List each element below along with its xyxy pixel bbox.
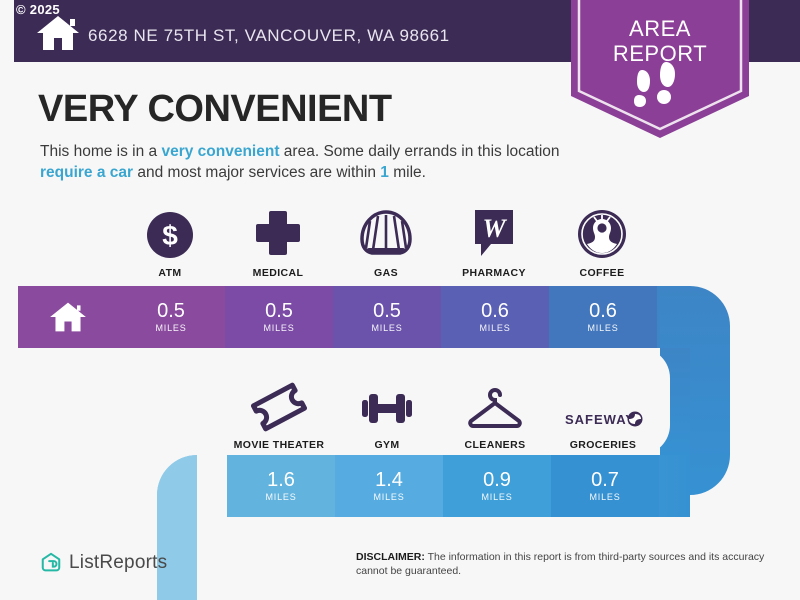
badge-text: AREA REPORT [565,16,755,66]
amenity-icon-row-bottom: MOVIE THEATER GYM CLEANER [225,374,657,451]
distance-cell: 0.9 MILES [443,455,551,517]
badge-line-1: AREA [565,16,755,41]
amenity-label: ATM [116,267,224,279]
distance-cell: 0.5 MILES [333,286,441,348]
amenity-gas: GAS [332,202,440,279]
area-report-infographic: © 2025 6628 NE 75TH ST, VANCOUVER, WA 98… [0,0,800,600]
hanger-icon [441,374,549,432]
amenity-label: GROCERIES [549,439,657,451]
amenity-groceries: SAFEWAY GROCERIES [549,374,657,451]
amenity-label: GAS [332,267,440,279]
dollar-circle-icon: $ [116,202,224,260]
distance-unit: MILES [371,323,402,333]
distance-value: 0.9 [483,470,511,491]
dumbbell-icon [333,374,441,432]
distance-unit: MILES [373,492,404,502]
distance-value: 1.6 [267,470,295,491]
distance-value: 0.7 [591,470,619,491]
home-marker-cell [18,286,117,348]
summary-highlight-3: 1 [380,164,389,181]
distance-value: 0.5 [373,301,401,322]
amenity-label: MOVIE THEATER [225,439,333,451]
amenity-medical: MEDICAL [224,202,332,279]
amenity-coffee: COFFEE [548,202,656,279]
house-icon [48,300,88,334]
svg-text:W: W [482,214,507,243]
distance-unit: MILES [263,323,294,333]
amenity-atm: $ ATM [116,202,224,279]
distance-cell: 0.5 MILES [117,286,225,348]
svg-text:$: $ [162,220,178,251]
page-title: VERY CONVENIENT [38,88,392,131]
distance-unit: MILES [589,492,620,502]
summary-part-1: This home is in a [40,143,161,160]
amenity-movie-theater: MOVIE THEATER [225,374,333,451]
distance-cell: 1.6 MILES [227,455,335,517]
listreports-logo-icon [40,552,62,574]
amenity-label: CLEANERS [441,439,549,451]
distance-value: 0.5 [157,301,185,322]
summary-text: This home is in a very convenient area. … [40,141,570,183]
distance-cell: 0.6 MILES [441,286,549,348]
property-address: 6628 NE 75TH ST, VANCOUVER, WA 98661 [88,26,450,46]
starbucks-logo-icon [548,202,656,260]
amenity-label: COFFEE [548,267,656,279]
summary-part-2: area. Some daily errands in this locatio… [280,143,560,160]
distance-cell: 1.4 MILES [335,455,443,517]
ticket-icon [225,374,333,432]
distance-unit: MILES [155,323,186,333]
amenity-gym: GYM [333,374,441,451]
amenity-label: MEDICAL [224,267,332,279]
distance-cell: 0.5 MILES [225,286,333,348]
distance-value: 0.6 [481,301,509,322]
shell-logo-icon [332,202,440,260]
distance-unit: MILES [481,492,512,502]
amenity-pharmacy: W PHARMACY [440,202,548,279]
distance-value: 0.5 [265,301,293,322]
distance-unit: MILES [265,492,296,502]
disclaimer-label: DISCLAIMER: [356,551,425,563]
distance-unit: MILES [587,323,618,333]
distance-value: 0.6 [589,301,617,322]
distance-bar-bottom: 1.6 MILES 1.4 MILES 0.9 MILES 0.7 MILES [227,455,659,517]
summary-part-4: mile. [389,164,426,181]
walgreens-logo-icon: W [440,202,548,260]
distance-unit: MILES [479,323,510,333]
copyright-label: © 2025 [16,2,60,17]
disclaimer: DISCLAIMER: The information in this repo… [356,550,776,578]
medical-cross-icon [224,202,332,260]
amenity-label: GYM [333,439,441,451]
amenity-icon-row-top: $ ATM MEDICAL GAS [116,202,656,279]
amenity-label: PHARMACY [440,267,548,279]
house-icon [36,14,80,52]
badge-line-2: REPORT [565,41,755,66]
summary-highlight-1: very convenient [161,143,279,160]
distance-bar-top: 0.5 MILES 0.5 MILES 0.5 MILES 0.6 MILES … [18,286,657,348]
svg-text:SAFEWAY: SAFEWAY [565,412,635,427]
amenity-cleaners: CLEANERS [441,374,549,451]
summary-highlight-2: require a car [40,164,133,181]
distance-cell: 0.6 MILES [549,286,657,348]
distance-value: 1.4 [375,470,403,491]
safeway-logo-icon: SAFEWAY [549,374,657,432]
listreports-brand-text: ListReports [69,552,167,574]
distance-cell: 0.7 MILES [551,455,659,517]
summary-part-3: and most major services are within [133,164,380,181]
listreports-logo[interactable]: ListReports [40,552,167,574]
